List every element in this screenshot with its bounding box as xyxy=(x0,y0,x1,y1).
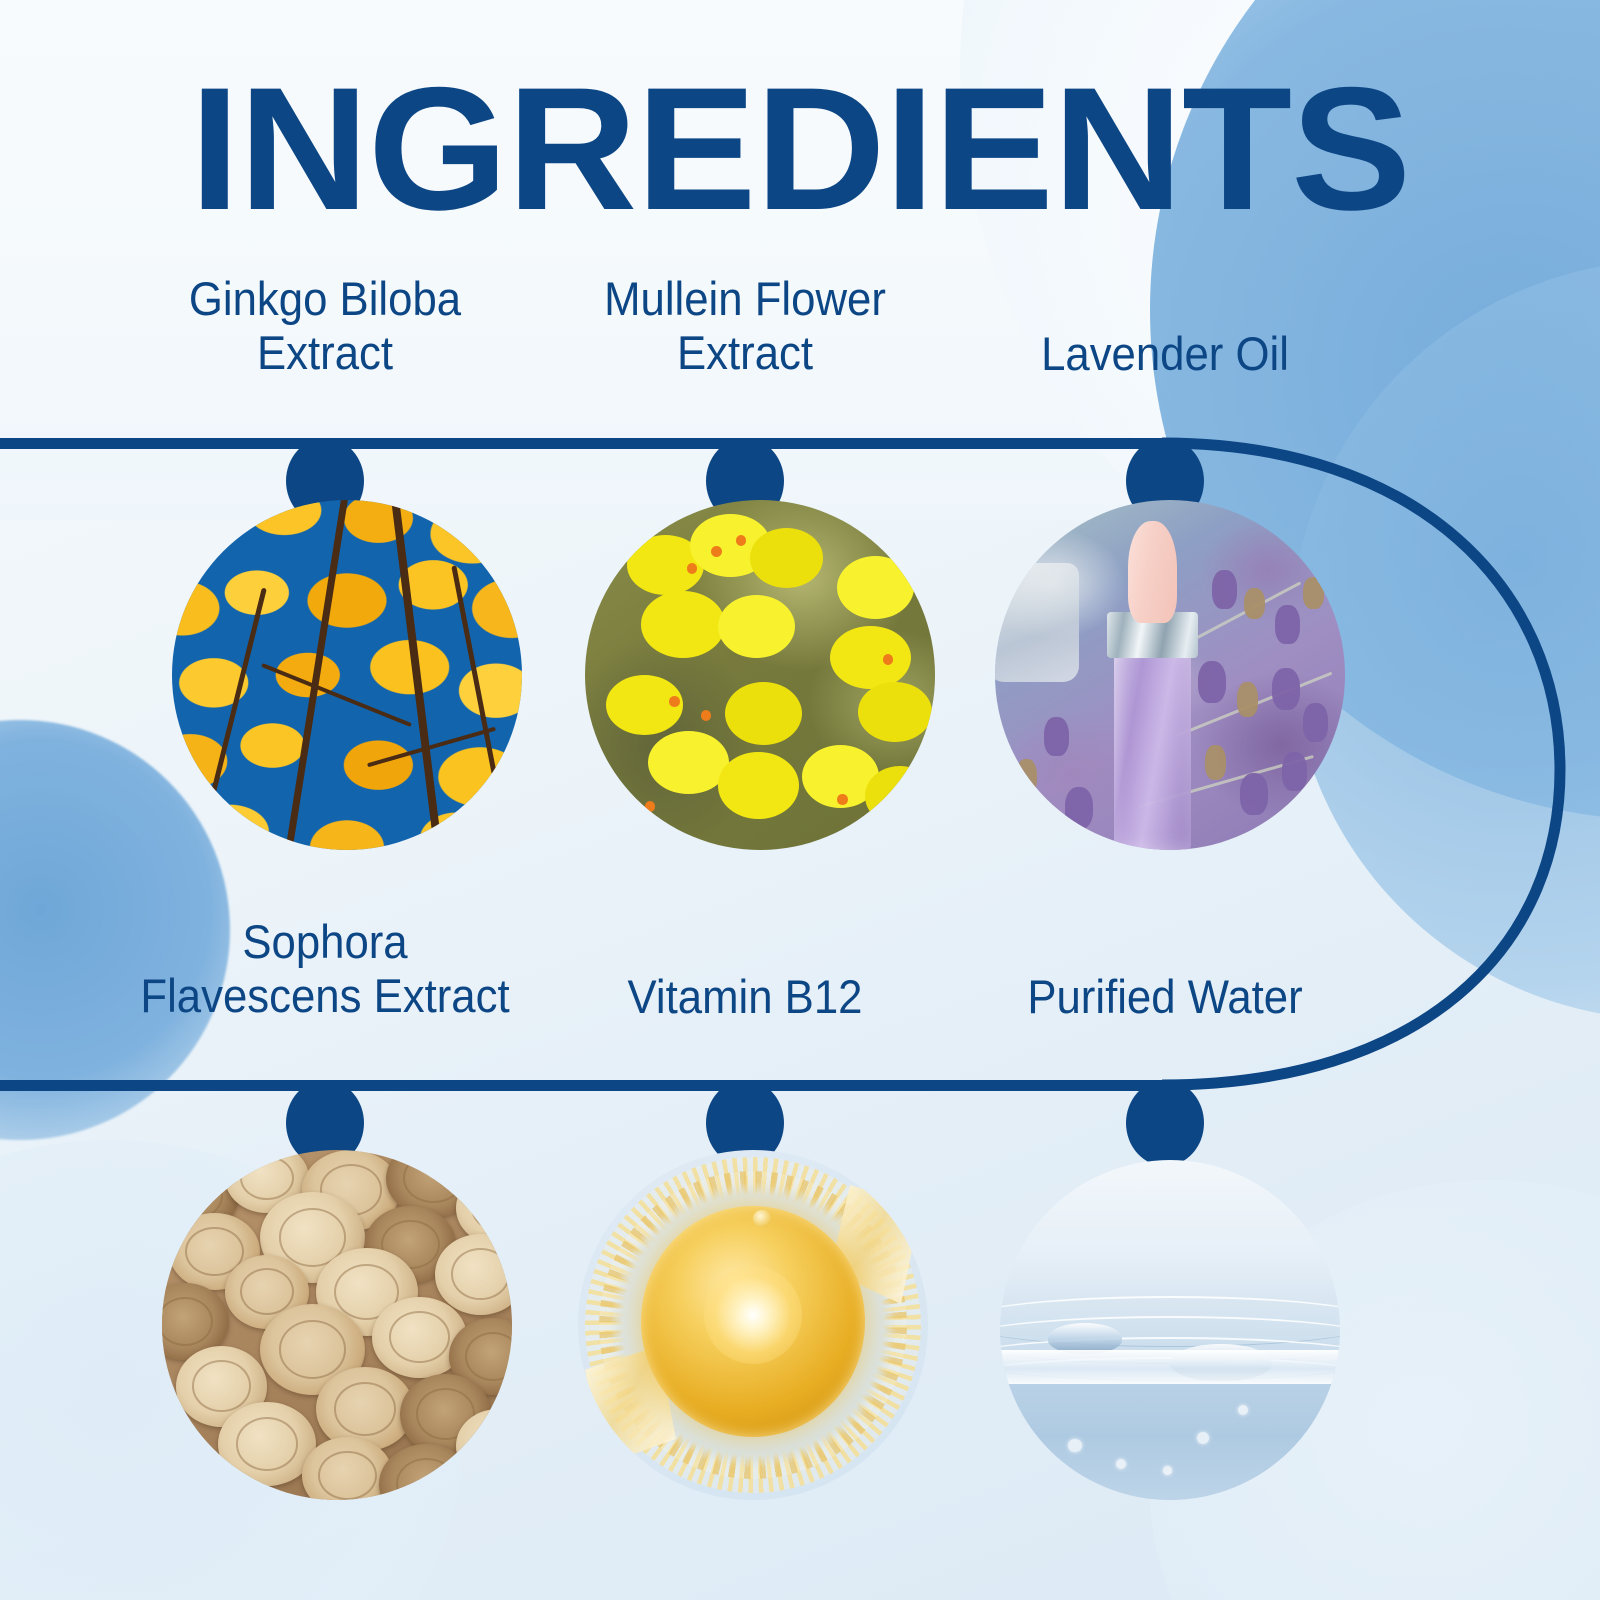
ingredient-image-sophora-flavescens-extract xyxy=(162,1150,512,1500)
mullein-petal xyxy=(718,595,795,658)
lavender-bud xyxy=(1198,661,1226,703)
water-splash xyxy=(1048,1323,1123,1354)
ingredient-label-mullein-flower-extract: Mullein Flower Extract xyxy=(540,272,949,379)
bottom-timeline-line xyxy=(0,1080,1165,1091)
lavender-bud xyxy=(1303,703,1328,742)
lavender-bud xyxy=(1303,577,1324,609)
lavender-bud xyxy=(1240,773,1268,815)
lavender-bud xyxy=(1044,717,1069,756)
mullein-stamen xyxy=(883,654,894,665)
ingredient-image-mullein-flower-extract xyxy=(585,500,935,850)
ingredient-image-ginkgo-biloba-extract xyxy=(172,500,522,850)
mullein-stamen xyxy=(669,696,680,707)
lavender-bud xyxy=(1237,682,1258,717)
water-bubble xyxy=(1068,1439,1082,1453)
mullein-stamen xyxy=(837,794,848,805)
mullein-petal xyxy=(725,682,802,745)
lavender-bud xyxy=(1275,605,1300,644)
water-pool xyxy=(1000,1384,1340,1500)
lavender-bud xyxy=(1244,588,1265,620)
mullein-stamen xyxy=(645,801,656,812)
lavender-oil-bottle xyxy=(1114,647,1191,850)
lavender-bud xyxy=(1310,794,1331,829)
mullein-stamen xyxy=(711,546,722,557)
lavender-jar xyxy=(995,563,1079,682)
sophora-root-slice xyxy=(435,1234,512,1315)
mullein-petal xyxy=(750,528,824,588)
mullein-petal xyxy=(865,766,935,826)
lavender-bud xyxy=(1272,668,1300,710)
water-bubble xyxy=(1163,1466,1172,1475)
lavender-dropper-teat xyxy=(1128,521,1177,623)
mullein-petal xyxy=(858,682,932,742)
water-bubble xyxy=(1197,1432,1209,1444)
ingredient-label-vitamin-b12: Vitamin B12 xyxy=(540,970,949,1024)
lavender-bud xyxy=(1205,745,1226,780)
mullein-stamen xyxy=(687,563,698,574)
ingredient-image-vitamin-b12 xyxy=(578,1150,928,1500)
vitamin-b12-bubble xyxy=(753,1210,771,1228)
mullein-petal xyxy=(830,626,911,689)
lavender-bud xyxy=(1065,787,1093,829)
timeline-dot-purified-water[interactable] xyxy=(1126,1080,1204,1166)
mullein-stamen xyxy=(736,535,747,546)
page-title: INGREDIENTS xyxy=(0,62,1600,237)
ginkgo-leaf-canopy xyxy=(172,500,522,850)
vitamin-b12-core-glow xyxy=(704,1266,802,1364)
ingredient-label-purified-water: Purified Water xyxy=(960,970,1369,1024)
infographic-canvas: INGREDIENTS Ginkgo Biloba Extract Mullei… xyxy=(0,0,1600,1600)
mullein-petal xyxy=(718,752,799,819)
ingredient-image-purified-water xyxy=(1000,1160,1340,1500)
top-timeline-line xyxy=(0,438,1165,449)
mullein-stamen xyxy=(701,710,712,721)
lavender-bud xyxy=(1282,752,1307,791)
ingredient-label-ginkgo-biloba-extract: Ginkgo Biloba Extract xyxy=(120,272,529,379)
lavender-bud xyxy=(1016,759,1037,794)
ingredient-image-lavender-oil xyxy=(995,500,1345,850)
ingredient-label-lavender-oil: Lavender Oil xyxy=(960,327,1369,381)
ingredient-label-sophora-flavescens-extract: Sophora Flavescens Extract xyxy=(102,915,548,1022)
mullein-petal xyxy=(648,731,729,794)
lavender-bud xyxy=(1212,570,1237,609)
mullein-petal xyxy=(641,591,725,658)
mullein-petal xyxy=(837,556,914,619)
water-surface-line xyxy=(1000,1350,1340,1384)
